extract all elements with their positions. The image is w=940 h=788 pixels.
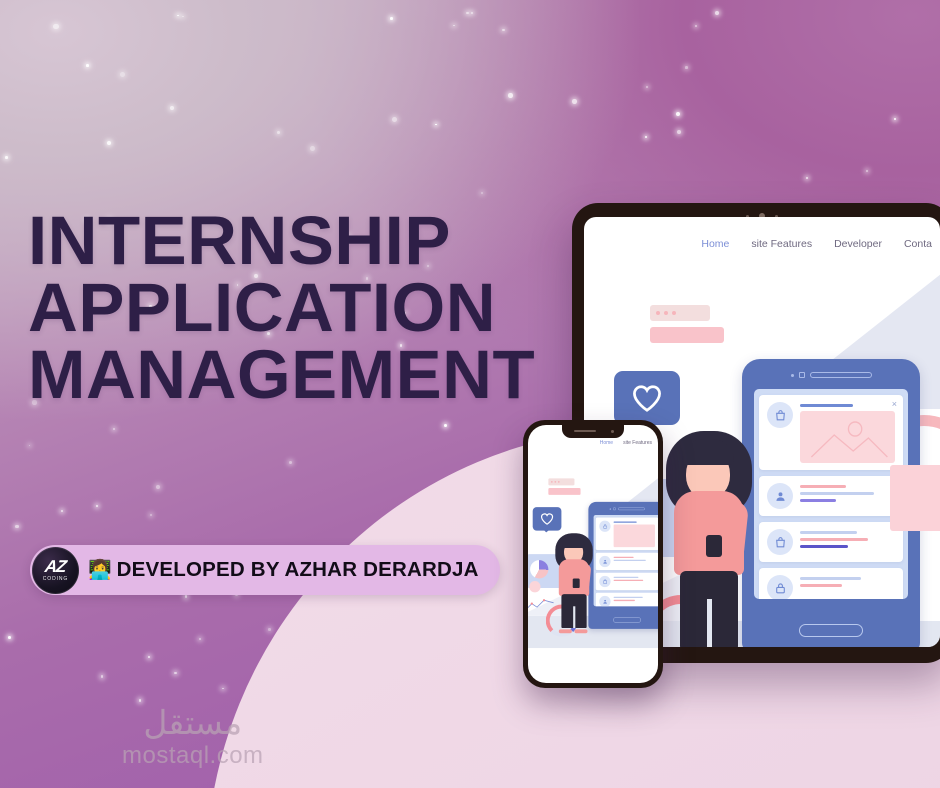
card-line xyxy=(800,531,857,534)
sparkle xyxy=(177,15,179,17)
sparkle xyxy=(8,636,11,639)
home-icon xyxy=(613,508,616,511)
sparkle xyxy=(148,656,150,658)
sparkle xyxy=(866,170,868,172)
front-camera-icon xyxy=(611,430,615,434)
person-illustration xyxy=(553,533,596,633)
notification-card xyxy=(759,522,903,562)
sparkle xyxy=(199,638,202,641)
sparkle xyxy=(15,525,19,529)
card-line xyxy=(614,560,646,561)
card-line xyxy=(614,521,637,522)
nav-item-home[interactable]: Home xyxy=(701,238,729,250)
shopping-bag-icon xyxy=(767,529,793,555)
sparkle xyxy=(61,510,64,513)
card-line xyxy=(800,485,846,488)
card-lines xyxy=(614,576,655,587)
card-image-placeholder xyxy=(614,525,655,548)
sparkle xyxy=(695,25,697,27)
sparkle xyxy=(156,485,160,489)
hair-front xyxy=(682,439,734,465)
sparkle xyxy=(150,514,152,516)
toolbar-dot xyxy=(558,481,560,483)
sparkle xyxy=(685,66,688,69)
sparkle xyxy=(310,146,315,151)
sparkle xyxy=(174,672,177,675)
decorative-circle xyxy=(529,581,540,592)
page-title: INTERNSHIP APPLICATION MANAGEMENT xyxy=(28,208,535,409)
card-image-placeholder xyxy=(800,411,895,463)
illustration-phone-content xyxy=(594,515,658,606)
az-coding-logo: AZ CODING xyxy=(32,547,79,594)
card-line xyxy=(800,499,836,502)
toolbar-dot xyxy=(656,311,660,315)
sparkle xyxy=(466,12,469,15)
held-phone xyxy=(706,535,722,557)
lock-icon xyxy=(767,575,793,599)
card-line xyxy=(800,538,868,541)
close-icon[interactable]: × xyxy=(892,400,897,409)
nav-item-home[interactable]: Home xyxy=(600,440,613,446)
sparkle xyxy=(392,117,397,122)
shoe xyxy=(559,629,572,633)
illustration-phone-statusbar xyxy=(588,507,658,510)
heart-icon xyxy=(614,371,680,425)
sparkle xyxy=(453,25,455,27)
toolbar-dot xyxy=(551,481,553,483)
sparkle xyxy=(390,17,393,20)
logo-mark-text: AZ xyxy=(44,558,67,575)
lock-icon xyxy=(599,521,610,532)
developer-credit-text: DEVELOPED BY AZHAR DERARDJA xyxy=(117,558,479,582)
sparkle xyxy=(5,156,8,159)
pie-chart-icon xyxy=(530,560,548,578)
notification-card xyxy=(596,518,658,551)
card-lines xyxy=(800,402,895,463)
notification-card xyxy=(596,553,658,570)
notification-card xyxy=(759,568,903,599)
sparkle xyxy=(185,595,188,598)
tablet-nav[interactable]: Home site Features Developer Conta xyxy=(701,238,940,250)
phone-illustration xyxy=(528,461,658,648)
nav-item-site-features[interactable]: site Features xyxy=(751,238,812,250)
sparkle xyxy=(139,699,142,702)
sparkle xyxy=(53,24,58,29)
card-line xyxy=(800,492,874,495)
nav-item-contact[interactable]: Conta xyxy=(904,238,932,250)
card-line xyxy=(614,557,634,558)
notification-card xyxy=(596,593,658,606)
sparkle xyxy=(113,428,115,430)
illustration-phone-home-button xyxy=(799,624,863,637)
card-line xyxy=(614,597,643,598)
sparkle xyxy=(572,99,577,104)
toolbar-dot xyxy=(672,311,676,315)
sparkle xyxy=(894,118,896,120)
decorative-toolbar xyxy=(548,478,574,485)
sparkle xyxy=(715,11,720,16)
person-icon xyxy=(599,596,610,606)
leg-gap xyxy=(707,599,712,647)
decorative-pink-bar xyxy=(650,327,724,343)
notification-card: × xyxy=(759,476,903,516)
person-illustration xyxy=(660,431,758,647)
shopping-bag-icon xyxy=(599,576,610,587)
hair-front xyxy=(562,537,585,548)
developer-emoji-icon: 👩‍💻 xyxy=(88,561,112,580)
sparkle xyxy=(86,64,89,67)
card-line xyxy=(800,584,842,587)
card-line xyxy=(800,404,853,407)
address-bar xyxy=(618,508,645,511)
status-dot xyxy=(791,374,794,377)
heart-icon xyxy=(533,507,562,530)
sparkle xyxy=(508,93,513,98)
illustration-phone-statusbar xyxy=(742,371,920,379)
phone-screen: Home site Features xyxy=(528,425,658,683)
nav-item-developer[interactable]: Developer xyxy=(834,238,882,250)
sparkle xyxy=(435,124,437,126)
decorative-toolbar xyxy=(650,305,710,321)
poster-canvas: INTERNSHIP APPLICATION MANAGEMENT AZ COD… xyxy=(0,0,940,788)
card-lines xyxy=(614,556,655,567)
logo-sub-text: CODING xyxy=(43,577,68,582)
person-icon xyxy=(767,483,793,509)
sparkle xyxy=(645,136,647,138)
decorative-pink-note xyxy=(890,465,940,531)
card-lines xyxy=(614,596,655,606)
sparkle xyxy=(107,141,111,145)
sparkle xyxy=(481,192,484,195)
card-lines xyxy=(614,521,655,548)
sparkle xyxy=(676,112,680,116)
sparkle xyxy=(277,131,280,134)
sparkle xyxy=(502,29,505,32)
developer-credit-badge: AZ CODING 👩‍💻 DEVELOPED BY AZHAR DERARDJ… xyxy=(30,545,500,595)
card-line xyxy=(614,600,635,601)
decorative-pink-bar xyxy=(548,488,580,495)
card-line xyxy=(800,577,861,580)
phone-device-mockup: Home site Features xyxy=(523,420,663,688)
phone-notch xyxy=(562,425,624,438)
sparkle xyxy=(268,628,271,631)
nav-item-site-features[interactable]: site Features xyxy=(623,440,652,446)
sparkle xyxy=(101,675,104,678)
held-phone xyxy=(573,578,580,588)
sparkle xyxy=(170,106,175,111)
card-lines xyxy=(800,529,895,555)
illustration-phone-home-button xyxy=(613,617,641,623)
phone-nav[interactable]: Home site Features xyxy=(600,440,652,446)
notification-card xyxy=(596,573,658,590)
shopping-bag-icon xyxy=(767,402,793,428)
shoe xyxy=(574,629,587,633)
card-lines xyxy=(800,483,895,509)
leg-gap xyxy=(573,606,575,628)
notification-card: × xyxy=(759,395,903,470)
sparkle xyxy=(182,16,184,18)
illustration-phone-content: × × xyxy=(754,389,908,599)
card-line xyxy=(800,545,848,548)
sparkle xyxy=(677,130,681,134)
card-line xyxy=(614,580,644,581)
sparkle xyxy=(29,445,31,447)
sparkle xyxy=(471,12,474,15)
sparkle xyxy=(222,688,224,690)
person-icon xyxy=(599,556,610,567)
sparkle xyxy=(444,424,447,427)
speaker-icon xyxy=(574,430,596,432)
sparkle xyxy=(806,177,808,179)
toolbar-dot xyxy=(554,481,556,483)
sparkle xyxy=(289,461,292,464)
toolbar-dot xyxy=(664,311,668,315)
illustration-phone-frame xyxy=(588,502,658,629)
sparkle xyxy=(120,72,125,77)
card-line xyxy=(614,577,639,578)
address-bar xyxy=(810,372,872,378)
sparkle xyxy=(96,505,98,507)
status-dot xyxy=(609,508,610,509)
card-lines xyxy=(800,575,895,599)
home-icon xyxy=(799,372,805,378)
sparkle xyxy=(646,86,648,88)
